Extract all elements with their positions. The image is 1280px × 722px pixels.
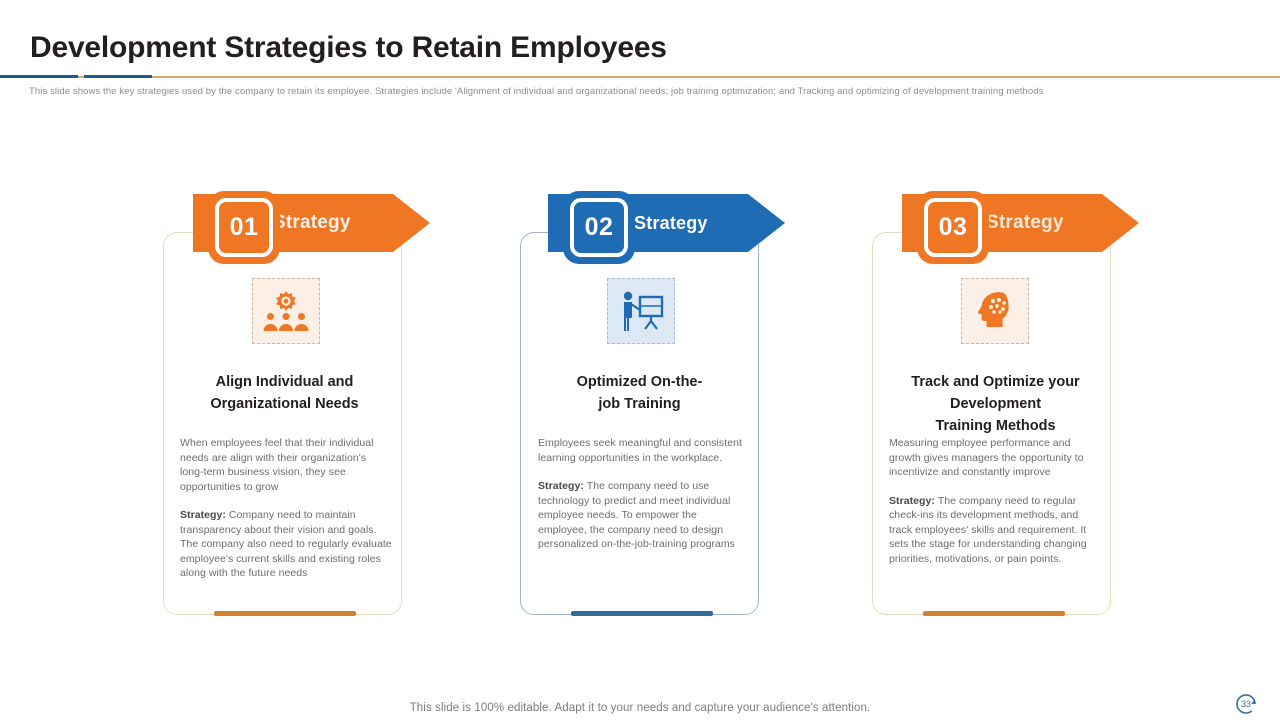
card-heading-line: Development [950, 396, 1041, 412]
card-heading-3: Track and Optimize your Development Trai… [874, 371, 1117, 437]
card-body-1: When employees feel that their individua… [180, 436, 392, 581]
card-paragraph-lead: Strategy: [180, 509, 226, 521]
page-number: 33 [1233, 691, 1259, 717]
card-number-badge-1: 01 [208, 191, 280, 264]
card-bottom-bar-1 [214, 611, 356, 616]
card-number-2: 02 [570, 198, 628, 257]
header-divider-accent-right [84, 75, 152, 78]
card-heading-line: Organizational Needs [210, 396, 358, 412]
card-paragraph: Strategy: Company need to maintain trans… [180, 508, 392, 581]
card-heading-2: Optimized On-the- job Training [518, 371, 761, 415]
card-paragraph-text: Measuring employee performance and growt… [889, 437, 1084, 478]
page-number-badge: 33 [1233, 691, 1259, 717]
card-paragraph-text: When employees feel that their individua… [180, 437, 374, 493]
card-heading-line: Training Methods [935, 418, 1055, 434]
page-subtitle: This slide shows the key strategies used… [29, 85, 1209, 98]
card-paragraph: Measuring employee performance and growt… [889, 436, 1103, 480]
card-banner-2: Strategy 02 [548, 194, 785, 252]
card-paragraph-lead: Strategy: [889, 495, 935, 507]
header-divider-accent-left [0, 75, 78, 78]
brain-head-icon [961, 278, 1029, 344]
strategy-card-2[interactable]: Strategy 02 Optimized On-the- job T [518, 186, 818, 636]
card-number-1: 01 [215, 198, 273, 257]
header-divider-line [0, 76, 1280, 78]
card-number-badge-2: 02 [563, 191, 635, 264]
card-paragraph-text: Employees seek meaningful and consistent… [538, 437, 742, 464]
banner-label-2: Strategy [634, 194, 708, 252]
banner-label-1: Strategy [273, 194, 351, 252]
card-paragraph-lead: Strategy: [538, 480, 584, 492]
banner-arrow-point-3 [1102, 194, 1139, 252]
card-number-3: 03 [924, 198, 982, 257]
banner-label-3: Strategy [986, 194, 1064, 252]
strategy-columns: Strategy 01 Align I [0, 186, 1280, 636]
strategy-card-3[interactable]: Strategy 03 [872, 186, 1172, 636]
footer-note: This slide is 100% editable. Adapt it to… [0, 702, 1280, 714]
page-title: Development Strategies to Retain Employe… [30, 31, 667, 65]
card-paragraph: Employees seek meaningful and consistent… [538, 436, 746, 465]
team-gear-icon [252, 278, 320, 344]
card-paragraph: Strategy: The company need to regular ch… [889, 494, 1103, 567]
card-body-3: Measuring employee performance and growt… [889, 436, 1103, 566]
card-bottom-bar-3 [923, 611, 1065, 616]
card-bottom-bar-2 [571, 611, 713, 616]
banner-arrow-point-1 [393, 194, 430, 252]
card-banner-3: Strategy 03 [902, 194, 1139, 252]
banner-arrow-point-2 [748, 194, 785, 252]
card-heading-1: Align Individual and Organizational Need… [163, 371, 406, 415]
card-heading-line: Track and Optimize your [911, 374, 1079, 390]
card-paragraph: Strategy: The company need to use techno… [538, 479, 746, 552]
strategy-card-1[interactable]: Strategy 01 Align I [163, 186, 463, 636]
trainer-whiteboard-icon [607, 278, 675, 344]
card-banner-1: Strategy 01 [193, 194, 430, 252]
card-number-badge-3: 03 [917, 191, 989, 264]
card-heading-line: Align Individual and [216, 374, 354, 390]
card-heading-line: job Training [598, 396, 680, 412]
card-body-2: Employees seek meaningful and consistent… [538, 436, 746, 552]
card-heading-line: Optimized On-the- [577, 374, 703, 390]
card-paragraph: When employees feel that their individua… [180, 436, 392, 494]
